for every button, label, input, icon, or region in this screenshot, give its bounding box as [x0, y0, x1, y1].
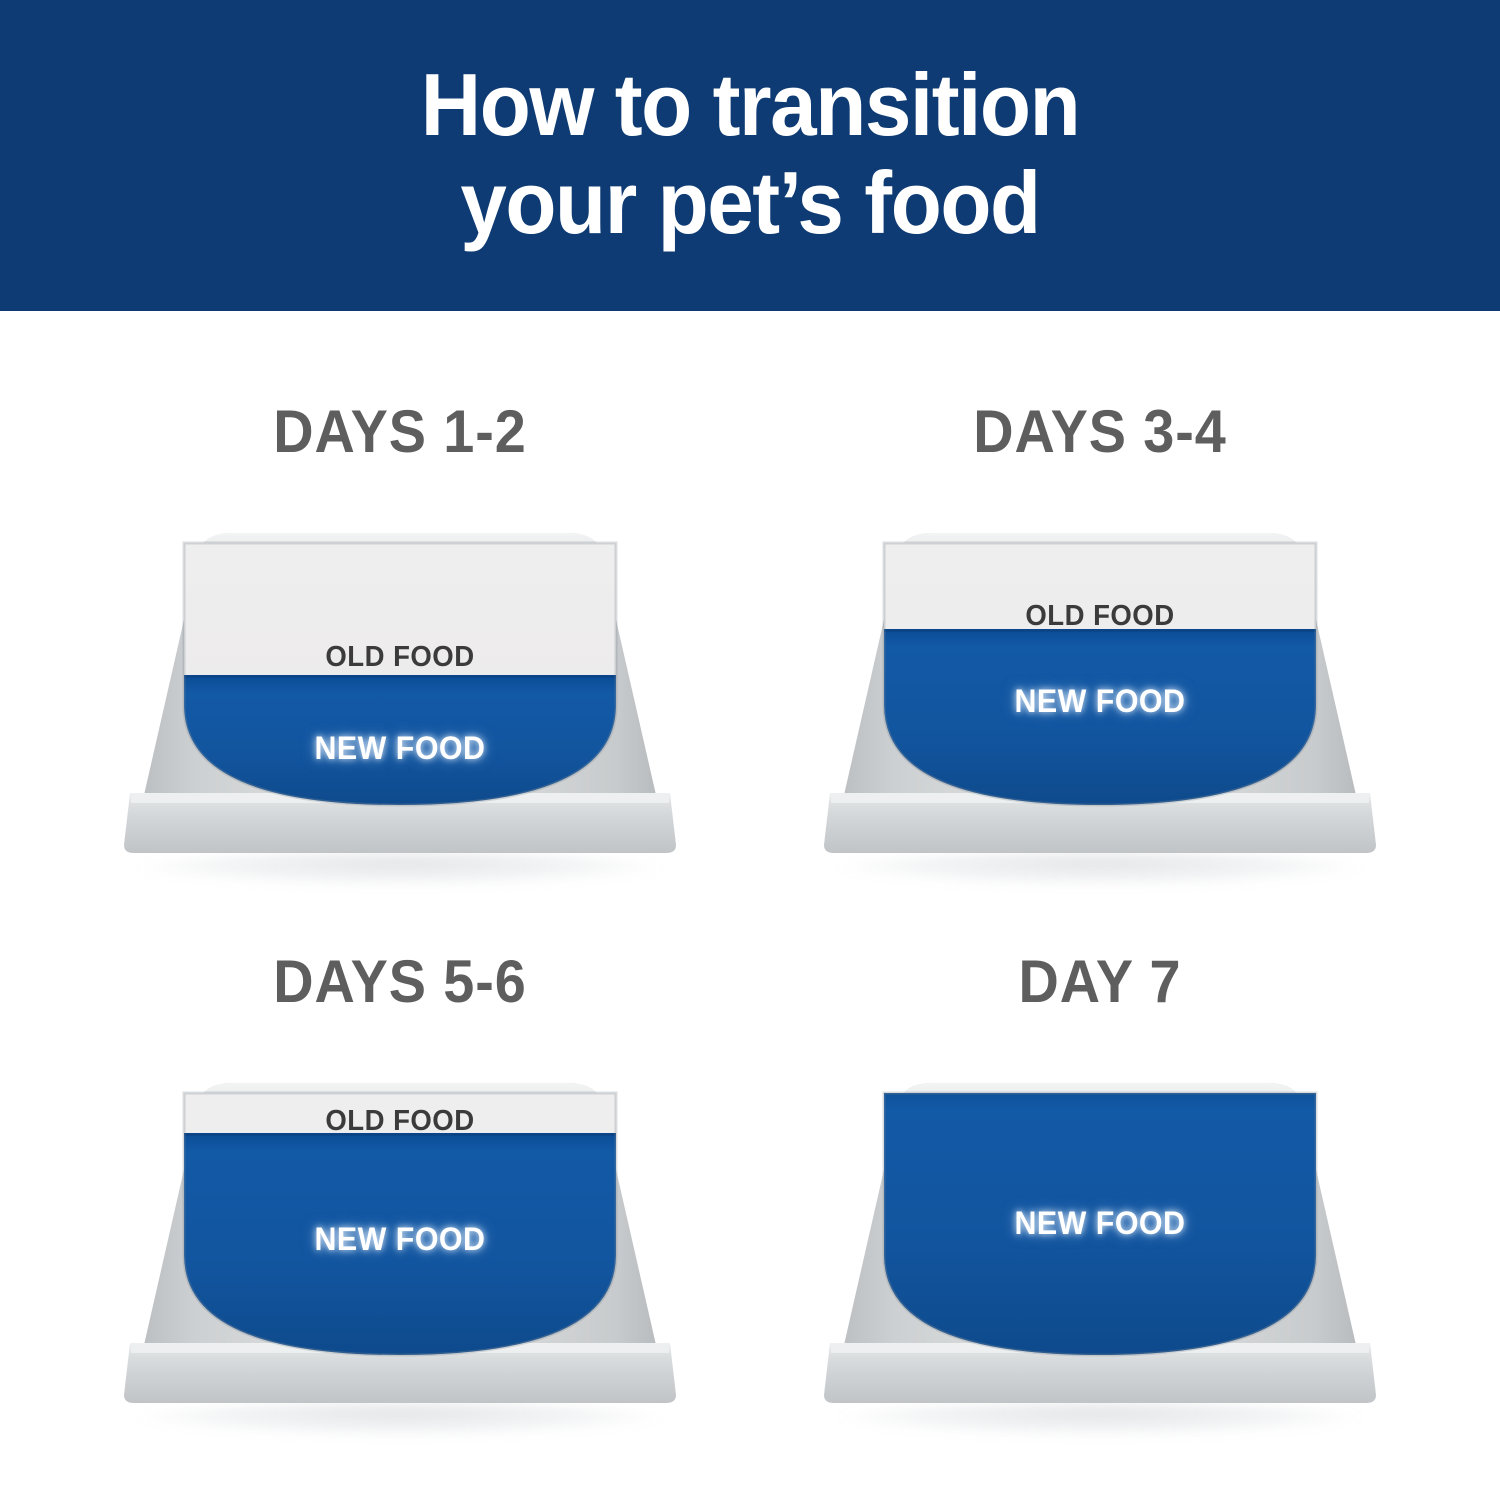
bowl-illustration — [800, 1055, 1400, 1415]
bowl-cavity — [184, 543, 616, 805]
day-label: DAYS 5-6 — [75, 951, 726, 1013]
food-boundary-line — [184, 675, 616, 678]
bowl-illustration — [100, 505, 700, 865]
transition-step-days-5-6: DAYS 5-6 — [50, 951, 750, 1511]
new-food-fill — [884, 1093, 1316, 1355]
new-food-fill — [184, 1133, 616, 1355]
transition-step-days-1-2: DAYS 1-2 — [50, 401, 750, 961]
food-boundary-line — [884, 629, 1316, 632]
day-label: DAY 7 — [775, 951, 1426, 1013]
bowl-cavity — [884, 1093, 1316, 1355]
bowl-illustration — [800, 505, 1400, 865]
food-bowl: OLD FOOD NEW FOOD — [800, 505, 1400, 865]
transition-step-days-3-4: DAYS 3-4 — [750, 401, 1450, 961]
day-label: DAYS 3-4 — [775, 401, 1426, 463]
page-title: How to transition your pet’s food — [38, 56, 1463, 252]
food-boundary-line — [184, 1133, 616, 1136]
food-bowl: OLD FOOD NEW FOOD — [100, 505, 700, 865]
new-food-fill — [884, 629, 1316, 805]
bowl-cavity — [184, 1093, 616, 1355]
food-bowl: OLD FOOD NEW FOOD — [100, 1055, 700, 1415]
bowl-grid: DAYS 1-2 — [0, 311, 1500, 1500]
header-banner: How to transition your pet’s food — [0, 0, 1500, 311]
day-label: DAYS 1-2 — [75, 401, 726, 463]
transition-step-day-7: DAY 7 — [750, 951, 1450, 1511]
bowl-illustration — [100, 1055, 700, 1415]
bowl-cavity — [884, 543, 1316, 805]
food-bowl: NEW FOOD — [800, 1055, 1400, 1415]
